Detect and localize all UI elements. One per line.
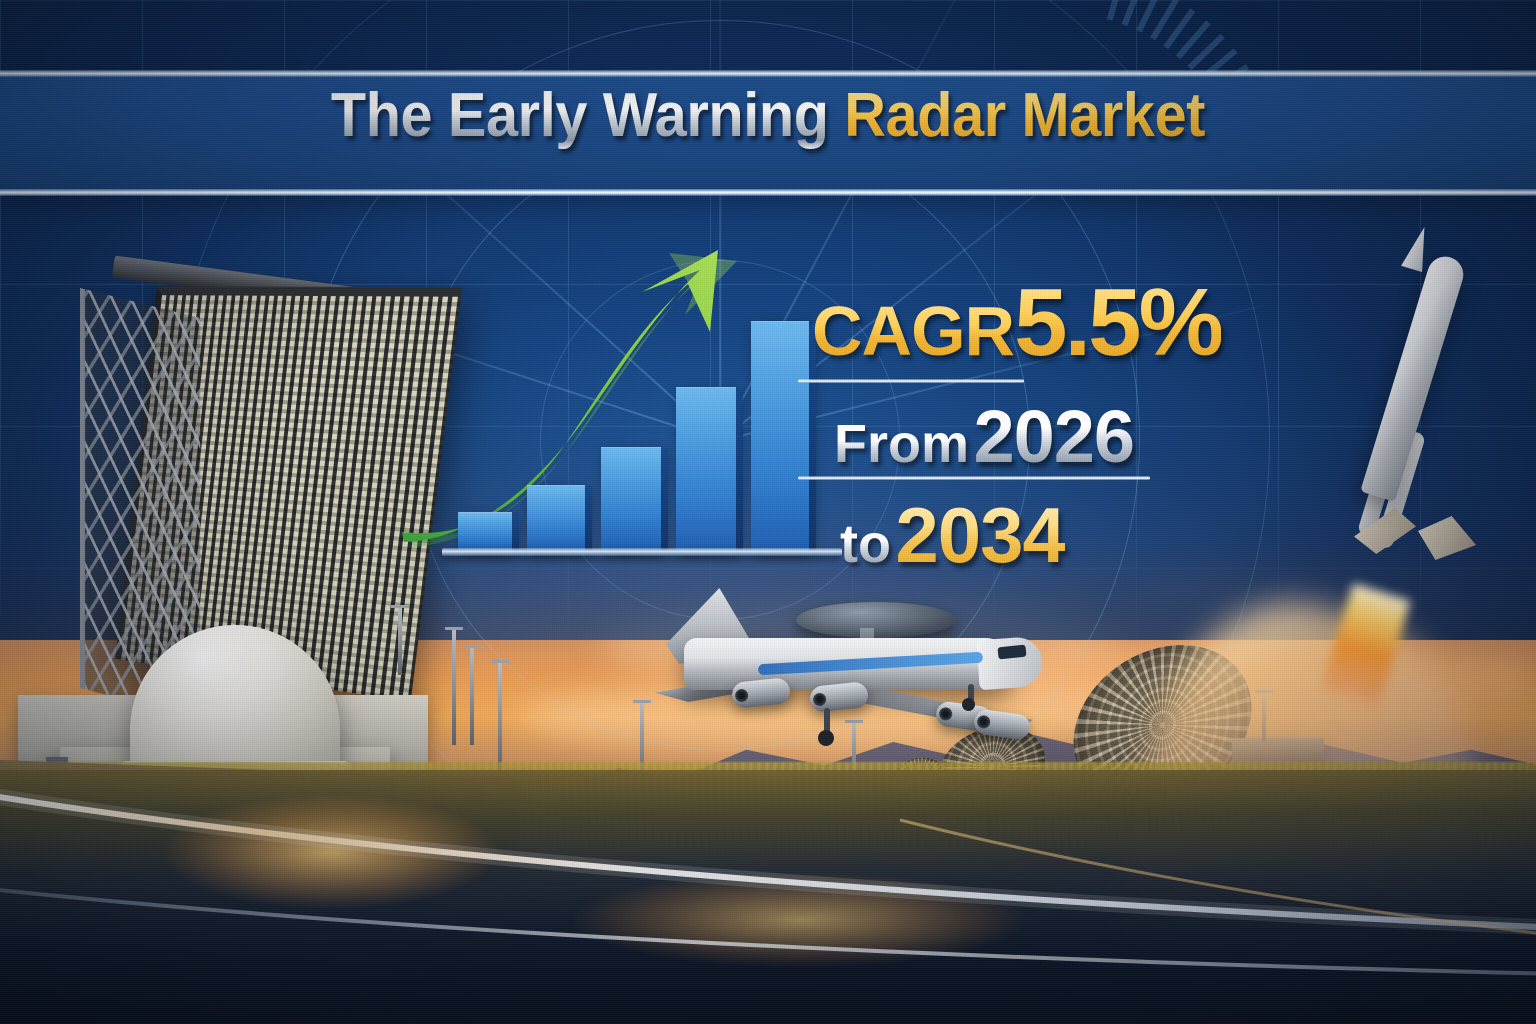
aircraft-rotodome [796,602,956,638]
awacs-surveillance-aircraft [648,580,1048,755]
foreground-ground [0,770,1536,1024]
title-part-primary: The Early Warning [331,81,829,150]
aircraft-engine [731,677,791,709]
to-label: to [840,514,891,574]
from-label: From [834,414,969,474]
aircraft-engine [973,708,1032,741]
aircraft-nose [976,636,1043,690]
chart-bar [458,512,512,550]
start-year: 2026 [973,395,1134,478]
chart-bar [527,485,585,550]
missile-fin [1418,516,1476,560]
banner-rule-top [0,70,1536,77]
chart-bar [676,387,736,550]
aircraft-engine [809,681,869,713]
banner-rule-bottom [0,189,1536,196]
antenna-mast [452,627,456,745]
antenna-mast [398,605,402,675]
title-part-accent: Radar Market [844,81,1205,150]
cagr-label: CAGR [812,292,1014,370]
stats-block: CAGR5.5% From 2026 to 2034 [798,268,1318,568]
growth-bar-chart [380,240,850,560]
stats-divider-top [798,379,1024,383]
from-year-row: From 2026 [834,394,1134,479]
chart-baseline [442,548,842,556]
antenna-mast [470,645,474,745]
infographic-canvas: CAGR5.5% From 2026 to 2034 The Early War… [0,0,1536,1024]
stats-divider-bottom [798,476,1150,480]
to-year-row: to 2034 [840,490,1065,581]
aircraft-gear-wheel [818,730,834,746]
cagr-row: CAGR5.5% [812,268,1221,378]
aircraft-gear-wheel [962,698,975,711]
chart-bar [601,447,661,550]
page-title: The Early Warning Radar Market [54,85,1482,147]
launching-missile [1330,240,1530,660]
end-year: 2034 [895,491,1065,579]
cagr-value: 5.5% [1014,269,1221,376]
